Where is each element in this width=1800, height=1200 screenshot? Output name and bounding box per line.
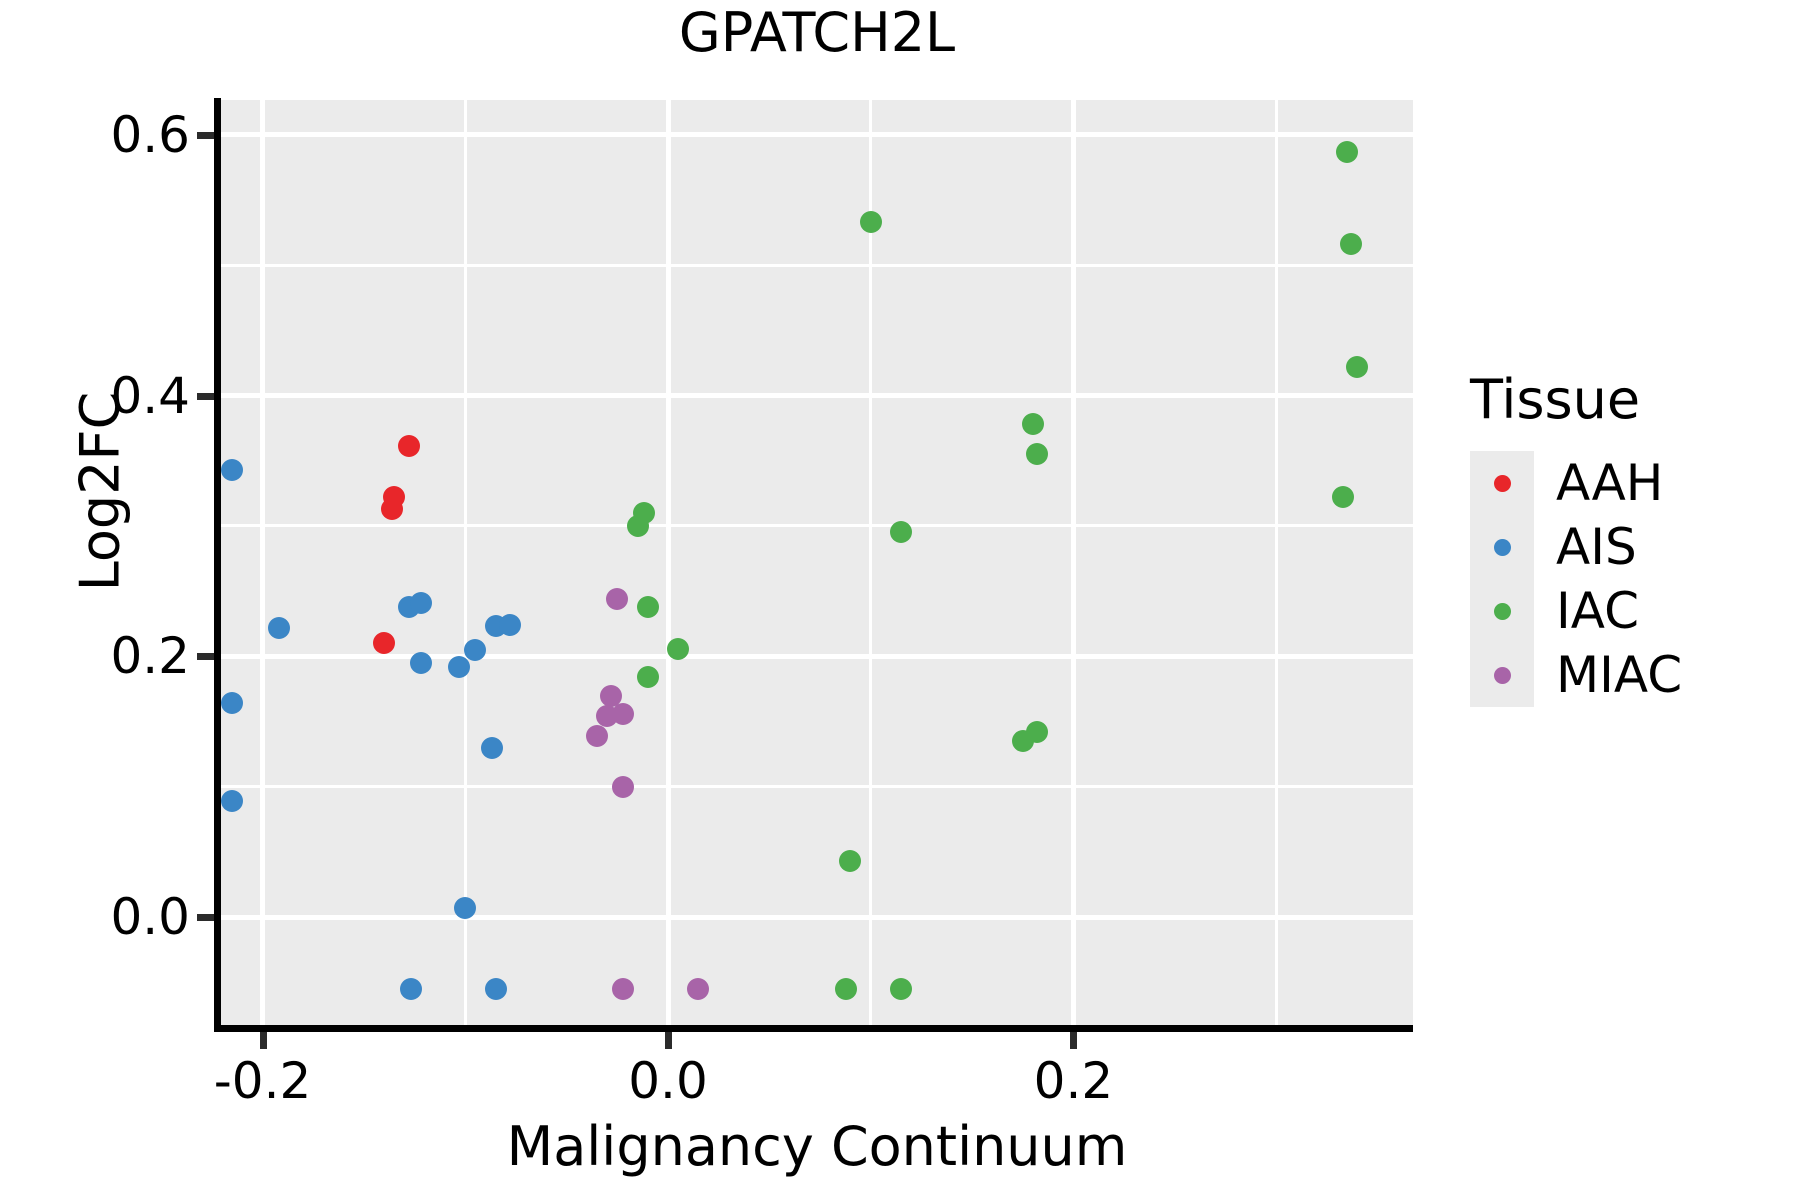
x-tick-label: 0.2 <box>1034 1052 1114 1110</box>
legend-key-swatch <box>1470 643 1534 707</box>
y-tick-mark <box>197 914 214 921</box>
y-axis-title: Log2FC <box>69 142 132 842</box>
data-point <box>221 790 243 812</box>
data-point <box>373 632 395 654</box>
data-point <box>398 435 420 457</box>
data-point <box>1332 486 1354 508</box>
data-point <box>586 725 608 747</box>
data-point <box>860 211 882 233</box>
data-point <box>499 614 521 636</box>
plot-panel <box>221 100 1413 1025</box>
data-point <box>481 737 503 759</box>
legend-title: Tissue <box>1470 368 1790 431</box>
data-point <box>606 588 628 610</box>
legend-dot-icon <box>1494 603 1511 620</box>
data-point <box>400 978 422 1000</box>
data-point <box>612 703 634 725</box>
legend-item-miac[interactable]: MIAC <box>1470 643 1790 707</box>
x-tick-mark <box>260 1032 267 1049</box>
legend-key-swatch <box>1470 515 1534 579</box>
legend-item-aah[interactable]: AAH <box>1470 451 1790 515</box>
legend-item-label: AAH <box>1556 454 1663 512</box>
x-tick-mark <box>665 1032 672 1049</box>
data-point <box>637 666 659 688</box>
data-point <box>1022 413 1044 435</box>
data-point <box>268 617 290 639</box>
gridline <box>260 100 265 1025</box>
data-point <box>839 850 861 872</box>
gridline <box>464 100 467 1025</box>
y-tick-label: 0.0 <box>110 888 190 946</box>
chart-root: GPATCH2L 0.00.20.40.6 -0.20.00.2 Maligna… <box>0 0 1800 1200</box>
data-point <box>1026 443 1048 465</box>
legend-dot-icon <box>1494 667 1511 684</box>
legend-key-swatch <box>1470 451 1534 515</box>
page-title: GPATCH2L <box>221 6 1413 60</box>
x-axis-line <box>214 1025 1413 1032</box>
y-tick-mark <box>197 132 214 139</box>
data-point <box>612 978 634 1000</box>
legend-item-iac[interactable]: IAC <box>1470 579 1790 643</box>
data-point <box>667 638 689 660</box>
legend-dot-icon <box>1494 475 1511 492</box>
data-point <box>221 459 243 481</box>
legend-item-label: AIS <box>1556 518 1637 576</box>
x-tick-label: -0.2 <box>214 1052 312 1110</box>
data-point <box>612 776 634 798</box>
legend-key-swatch <box>1470 579 1534 643</box>
data-point <box>485 978 507 1000</box>
data-point <box>890 521 912 543</box>
gridline <box>221 264 1413 267</box>
data-point <box>1336 141 1358 163</box>
data-point <box>410 592 432 614</box>
gridline <box>666 100 671 1025</box>
legend: Tissue AAHAISIACMIAC <box>1470 368 1790 707</box>
data-point <box>1340 233 1362 255</box>
x-tick-mark <box>1070 1032 1077 1049</box>
data-point <box>633 502 655 524</box>
y-axis-line <box>214 98 221 1027</box>
legend-items: AAHAISIACMIAC <box>1470 451 1790 707</box>
gridline <box>221 915 1413 920</box>
y-tick-mark <box>197 653 214 660</box>
gridline <box>221 654 1413 659</box>
gridline <box>869 100 872 1025</box>
x-tick-label: 0.0 <box>628 1052 708 1110</box>
legend-item-label: MIAC <box>1556 646 1682 704</box>
data-point <box>221 692 243 714</box>
gridline <box>221 524 1413 527</box>
gridline <box>221 132 1413 137</box>
data-point <box>410 652 432 674</box>
legend-dot-icon <box>1494 539 1511 556</box>
data-point <box>448 656 470 678</box>
data-point <box>835 978 857 1000</box>
x-axis-title: Malignancy Continuum <box>221 1115 1413 1178</box>
data-point <box>890 978 912 1000</box>
data-point <box>1346 356 1368 378</box>
gridline <box>221 785 1413 788</box>
gridline <box>1275 100 1278 1025</box>
data-point <box>1026 721 1048 743</box>
data-point <box>637 596 659 618</box>
data-point <box>687 978 709 1000</box>
gridline <box>1071 100 1076 1025</box>
legend-item-ais[interactable]: AIS <box>1470 515 1790 579</box>
y-tick-mark <box>197 393 214 400</box>
legend-item-label: IAC <box>1556 582 1639 640</box>
gridline <box>221 393 1413 398</box>
